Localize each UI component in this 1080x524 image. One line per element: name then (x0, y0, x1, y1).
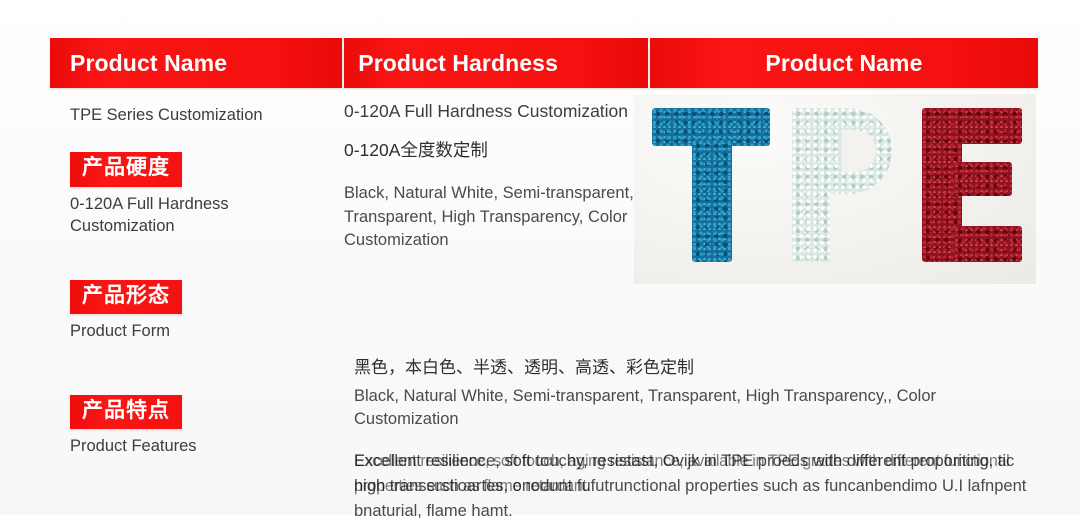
tpe-pellet-image (634, 94, 1036, 284)
badge-product-features: 产品特点 (70, 395, 182, 430)
letter-t-icon (692, 140, 732, 262)
table-row: TPE Series Customization (70, 96, 332, 126)
features-text-primary: Excellent resilience, soft touchy, resis… (354, 449, 1042, 524)
cell-colors-cn: 黑色，本白色、半透、透明、高透、彩色定制 (354, 356, 1038, 380)
cell-hardness-en: 0-120A Full Hardness Customization (344, 94, 634, 124)
product-spec-table: Product Name Product Hardness Product Na… (50, 38, 1038, 498)
table-header-cell-product-name-right: Product Name (650, 38, 1038, 88)
letter-e-icon (954, 108, 1022, 144)
letter-e-icon (954, 226, 1022, 262)
letter-e-icon (954, 162, 1012, 196)
table-header-cell-product-hardness: Product Hardness (344, 38, 648, 88)
cell-colors-en-wide: Black, Natural White, Semi-transparent, … (354, 385, 1038, 432)
badge-product-form: 产品形态 (70, 280, 182, 315)
label-product-hardness-en: 0-120A Full Hardness Customization (70, 193, 332, 238)
cell-product-form-values: 黑色，本白色、半透、透明、高透、彩色定制 Black, Natural Whit… (342, 356, 1038, 432)
features-text-stack: Excellent resilience, soft touchy, resis… (354, 449, 1042, 524)
page-root: Product Name Product Hardness Product Na… (0, 0, 1080, 515)
cell-hardness-cn: 0-120A全度数定制 (344, 138, 634, 163)
label-product-form-en: Product Form (70, 320, 332, 342)
table-body: TPE Series Customization 产品硬度 0-120A Ful… (50, 94, 1038, 458)
image-backdrop (634, 94, 1036, 284)
table-row: 产品硬度 0-120A Full Hardness Customization (70, 152, 332, 237)
table-column-left: TPE Series Customization 产品硬度 0-120A Ful… (50, 94, 332, 458)
cell-product-features: Excellent resilience, soft touchy, resis… (342, 449, 1042, 524)
table-row: 产品形态 Product Form (70, 280, 332, 343)
cell-colors-en-narrow: Black, Natural White, Semi-transparent, … (344, 182, 634, 252)
table-header-cell-product-name-left: Product Name (50, 38, 342, 88)
badge-product-hardness: 产品硬度 (70, 152, 182, 187)
label-product-features-en: Product Features (70, 435, 332, 457)
table-row: 产品特点 Product Features (70, 395, 332, 458)
table-header-row: Product Name Product Hardness Product Na… (50, 38, 1038, 88)
